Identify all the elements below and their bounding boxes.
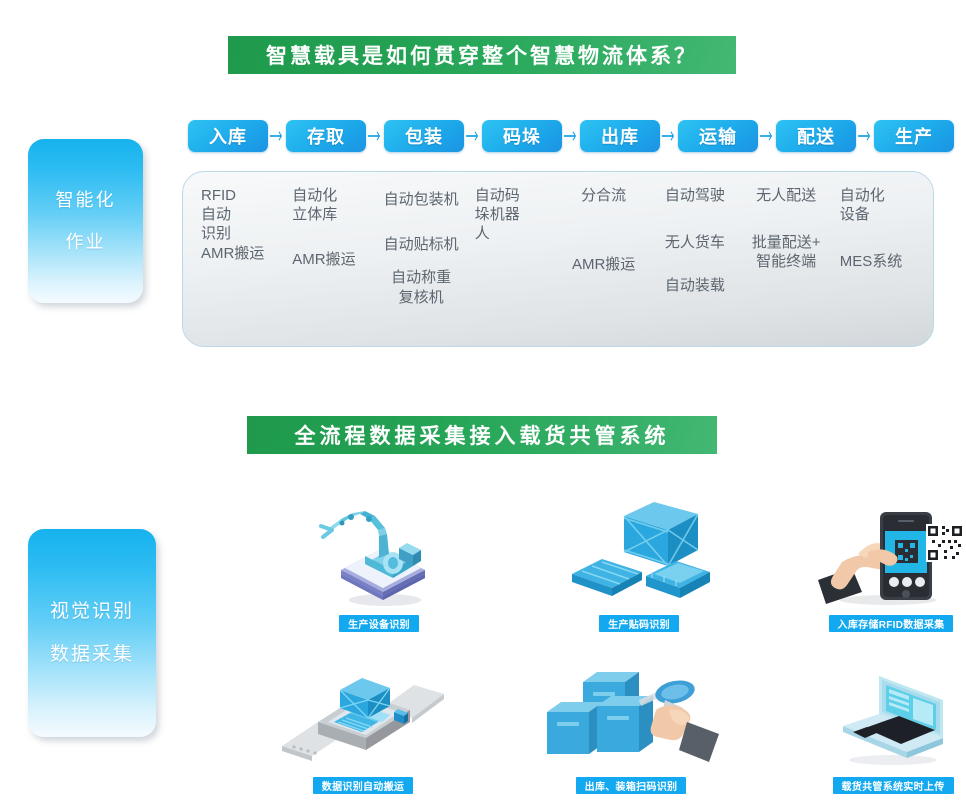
detail-item: 自动称重: [378, 268, 465, 287]
detail-item: 自动: [195, 205, 288, 224]
detail-column-inbound: RFID 自动 识别 AMR搬运: [193, 186, 284, 336]
detail-item: 设备: [834, 205, 927, 224]
laptop-icon: [823, 660, 963, 770]
detail-item: 无人货车: [651, 233, 738, 252]
flow-step-transport[interactable]: 运输: [678, 120, 758, 152]
box-barcode-scanner-icon: [541, 660, 721, 770]
caption-badge: 载货共管系统实时上传: [833, 777, 954, 794]
detail-column-delivery: 无人配送 批量配送+ 智能终端: [741, 186, 832, 336]
conveyor-sorter-icon: [278, 660, 448, 770]
detail-item: 垛机器: [469, 205, 562, 224]
process-detail-columns: RFID 自动 识别 AMR搬运 自动化 立体库 AMR搬运 自动包装机 自动贴…: [183, 172, 933, 346]
caption-text: 载货共管系统实时上传: [842, 778, 945, 793]
banner-middle-text: 全流程数据采集接入载货共管系统: [295, 420, 670, 450]
caption-text: 出库、装箱扫码识别: [585, 778, 678, 793]
detail-item: 立体库: [286, 205, 379, 224]
process-detail-panel: RFID 自动 识别 AMR搬运 自动化 立体库 AMR搬运 自动包装机 自动贴…: [182, 171, 934, 347]
detail-item: AMR搬运: [560, 255, 647, 274]
detail-column-storage-retrieval: 自动化 立体库 AMR搬运: [284, 186, 375, 336]
side-card-vision-line1: 视觉识别: [50, 602, 134, 621]
detail-item: 自动化: [286, 186, 379, 205]
detail-item: 自动码: [469, 186, 562, 205]
infographic-canvas: 智慧载具是如何贯穿整个智慧物流体系？ 智能化 作业 入库 存取 包装 码垛: [0, 0, 966, 806]
section-title-banner-top: 智慧载具是如何贯穿整个智慧物流体系？: [228, 36, 736, 74]
side-card-vision-line2: 数据采集: [50, 645, 134, 664]
flow-step-delivery-label: 配送: [797, 123, 835, 149]
pallet-crate-icon: [564, 498, 714, 608]
detail-item: 识别: [195, 224, 288, 243]
flow-arrow-icon: [564, 131, 578, 141]
flow-arrow-icon: [466, 131, 480, 141]
flow-arrow-icon: [760, 131, 774, 141]
banner-top-text: 智慧载具是如何贯穿整个智慧物流体系？: [266, 40, 698, 70]
flow-step-outbound[interactable]: 出库: [580, 120, 660, 152]
detail-item: 自动包装机: [378, 190, 465, 209]
detail-item: 自动驾驶: [651, 186, 738, 205]
process-flow-steps: 入库 存取 包装 码垛 出库 运输: [188, 118, 928, 154]
detail-item: 自动装载: [651, 276, 738, 295]
grid-cell-rfid-capture: 入库存储RFID数据采集: [766, 480, 966, 632]
flow-step-storage-retrieval-label: 存取: [307, 123, 345, 149]
flow-arrow-icon: [858, 131, 872, 141]
robot-arm-icon: [317, 498, 441, 608]
grid-cell-production-equipment: 生产设备识别: [254, 480, 504, 632]
flow-step-inbound[interactable]: 入库: [188, 120, 268, 152]
flow-step-palletizing-label: 码垛: [503, 123, 541, 149]
flow-arrow-icon: [368, 131, 382, 141]
detail-item: AMR搬运: [286, 250, 379, 269]
flow-step-packaging[interactable]: 包装: [384, 120, 464, 152]
detail-item: 批量配送+: [743, 233, 830, 252]
caption-text: 生产贴码识别: [608, 616, 670, 631]
detail-item: 无人配送: [743, 186, 830, 205]
detail-item: 复核机: [378, 288, 465, 307]
flow-step-production[interactable]: 生产: [874, 120, 954, 152]
side-card-vision-recognition: 视觉识别 数据采集: [28, 529, 156, 737]
flow-step-storage-retrieval[interactable]: 存取: [286, 120, 366, 152]
detail-column-outbound: 分合流 AMR搬运: [558, 186, 649, 336]
detail-item: MES系统: [834, 252, 927, 271]
grid-cell-auto-handling: 数据识别自动搬运: [238, 642, 488, 794]
detail-item: AMR搬运: [195, 244, 288, 263]
detail-column-packaging: 自动包装机 自动贴标机 自动称重 复核机: [376, 186, 467, 336]
flow-step-inbound-label: 入库: [209, 123, 247, 149]
detail-item: 智能终端: [743, 252, 830, 271]
detail-column-palletizing: 自动码 垛机器 人: [467, 186, 558, 336]
caption-text: 数据识别自动搬运: [322, 778, 404, 793]
flow-arrow-icon: [270, 131, 284, 141]
flow-step-transport-label: 运输: [699, 123, 737, 149]
detail-item: 自动化: [834, 186, 927, 205]
caption-badge: 数据识别自动搬运: [313, 777, 413, 794]
detail-column-transport: 自动驾驶 无人货车 自动装载: [649, 186, 740, 336]
flow-step-outbound-label: 出库: [601, 123, 639, 149]
caption-badge: 生产设备识别: [339, 615, 419, 632]
flow-step-delivery[interactable]: 配送: [776, 120, 856, 152]
grid-cell-system-upload: 载货共管系统实时上传: [768, 642, 966, 794]
flow-step-production-label: 生产: [895, 123, 933, 149]
phone-qr-scan-icon: [818, 498, 964, 608]
caption-badge: 出库、装箱扫码识别: [576, 777, 687, 794]
detail-item: RFID: [195, 186, 288, 205]
flow-step-palletizing[interactable]: 码垛: [482, 120, 562, 152]
caption-text: 生产设备识别: [348, 616, 410, 631]
caption-badge: 生产贴码识别: [599, 615, 679, 632]
grid-cell-outbound-scan: 出库、装箱扫码识别: [506, 642, 756, 794]
caption-badge: 入库存储RFID数据采集: [829, 615, 954, 632]
detail-item: 分合流: [560, 186, 647, 205]
detail-item: 人: [469, 224, 562, 243]
flow-arrow-icon: [662, 131, 676, 141]
side-card-smart-operations-line1: 智能化: [56, 191, 116, 209]
detail-item: 自动贴标机: [378, 235, 465, 254]
side-card-smart-operations: 智能化 作业: [28, 139, 143, 303]
flow-step-packaging-label: 包装: [405, 123, 443, 149]
detail-column-production: 自动化 设备 MES系统: [832, 186, 923, 336]
grid-cell-production-labeling: 生产贴码识别: [514, 480, 764, 632]
vision-icon-grid: 生产设备识别: [196, 480, 954, 800]
caption-text: 入库存储RFID数据采集: [838, 616, 945, 631]
side-card-smart-operations-line2: 作业: [66, 233, 106, 251]
section-title-banner-middle: 全流程数据采集接入载货共管系统: [247, 416, 717, 454]
